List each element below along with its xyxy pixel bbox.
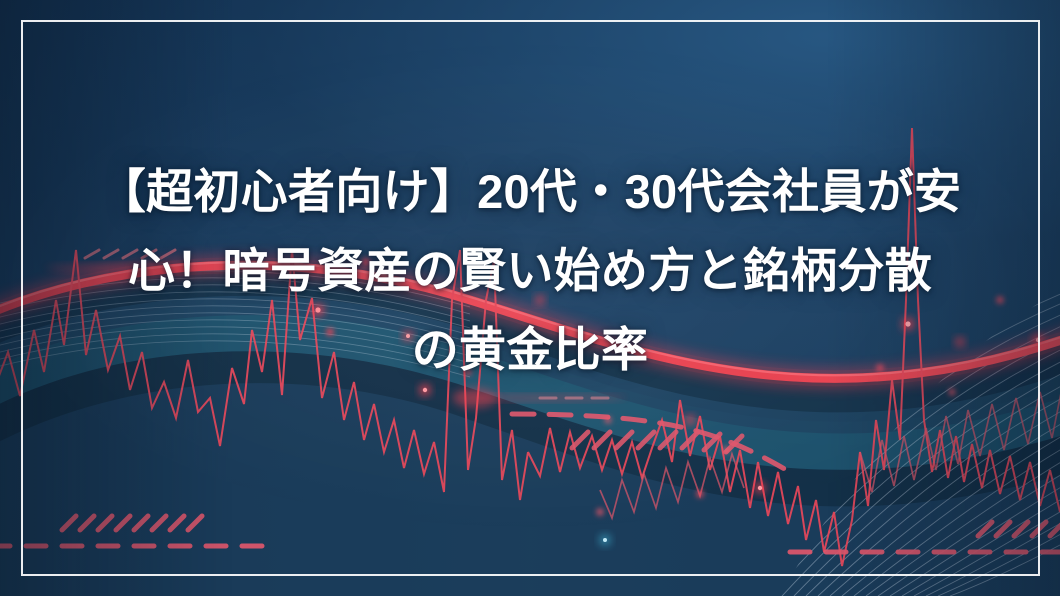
page-title: 【超初心者向け】20代・30代会社員が安 心！暗号資産の賢い始め方と銘柄分散 の… [0, 152, 1060, 389]
title-line-2: 心！暗号資産の賢い始め方と銘柄分散 [128, 231, 932, 310]
thumbnail-canvas: 【超初心者向け】20代・30代会社員が安 心！暗号資産の賢い始め方と銘柄分散 の… [0, 0, 1060, 596]
title-line-3: の黄金比率 [412, 310, 649, 389]
title-line-1: 【超初心者向け】20代・30代会社員が安 [99, 152, 962, 231]
